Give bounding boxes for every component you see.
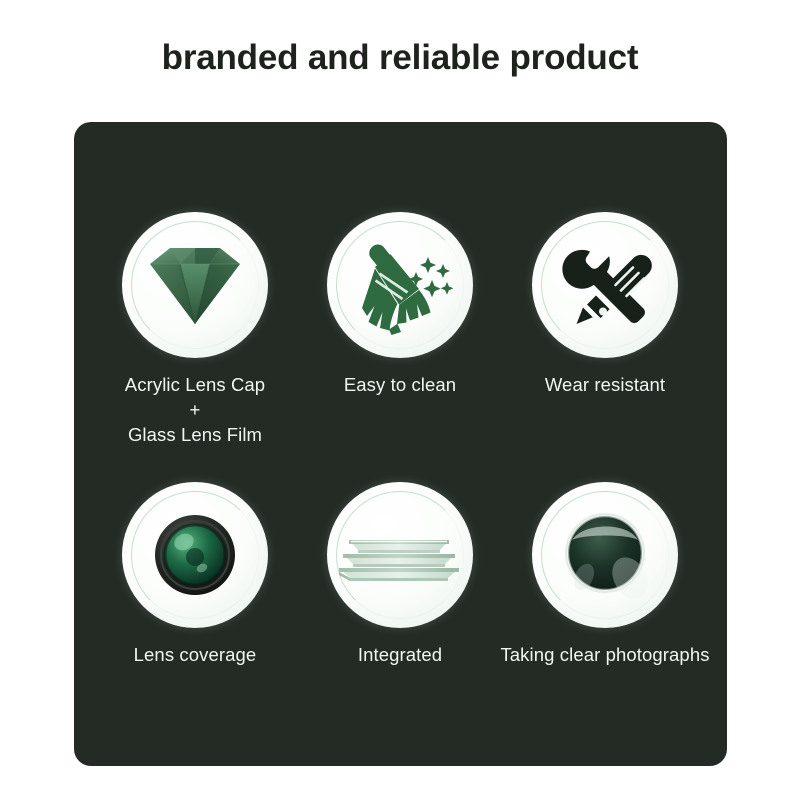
icon-circle (532, 212, 678, 358)
glass-dome-icon (532, 482, 678, 628)
feature-label: Acrylic Lens Cap + Glass Lens Film (65, 372, 325, 447)
page-title: branded and reliable product (0, 38, 800, 78)
feature-label: Taking clear photographs (500, 642, 710, 667)
glass-layers-icon (327, 482, 473, 628)
broom-sparkle-icon (327, 212, 473, 358)
wrench-screwdriver-icon (532, 212, 678, 358)
feature-label: Integrated (295, 642, 505, 667)
feature-item-lens-coverage[interactable]: Lens coverage (90, 482, 300, 667)
icon-circle (122, 212, 268, 358)
feature-item-integrated[interactable]: Integrated (295, 482, 505, 667)
feature-panel: Acrylic Lens Cap + Glass Lens Film (74, 122, 727, 766)
diamond-icon (122, 212, 268, 358)
icon-circle (122, 482, 268, 628)
feature-item-easy-to-clean[interactable]: Easy to clean (295, 212, 505, 397)
icon-circle (327, 212, 473, 358)
feature-item-wear-resistant[interactable]: Wear resistant (500, 212, 710, 397)
feature-item-taking-clear-photographs[interactable]: Taking clear photographs (500, 482, 710, 667)
feature-label: Easy to clean (295, 372, 505, 397)
feature-grid: Acrylic Lens Cap + Glass Lens Film (74, 122, 727, 766)
camera-lens-icon (122, 482, 268, 628)
icon-circle (532, 482, 678, 628)
feature-item-acrylic-lens-cap[interactable]: Acrylic Lens Cap + Glass Lens Film (90, 212, 300, 447)
feature-label: Wear resistant (500, 372, 710, 397)
feature-label: Lens coverage (90, 642, 300, 667)
icon-circle (327, 482, 473, 628)
